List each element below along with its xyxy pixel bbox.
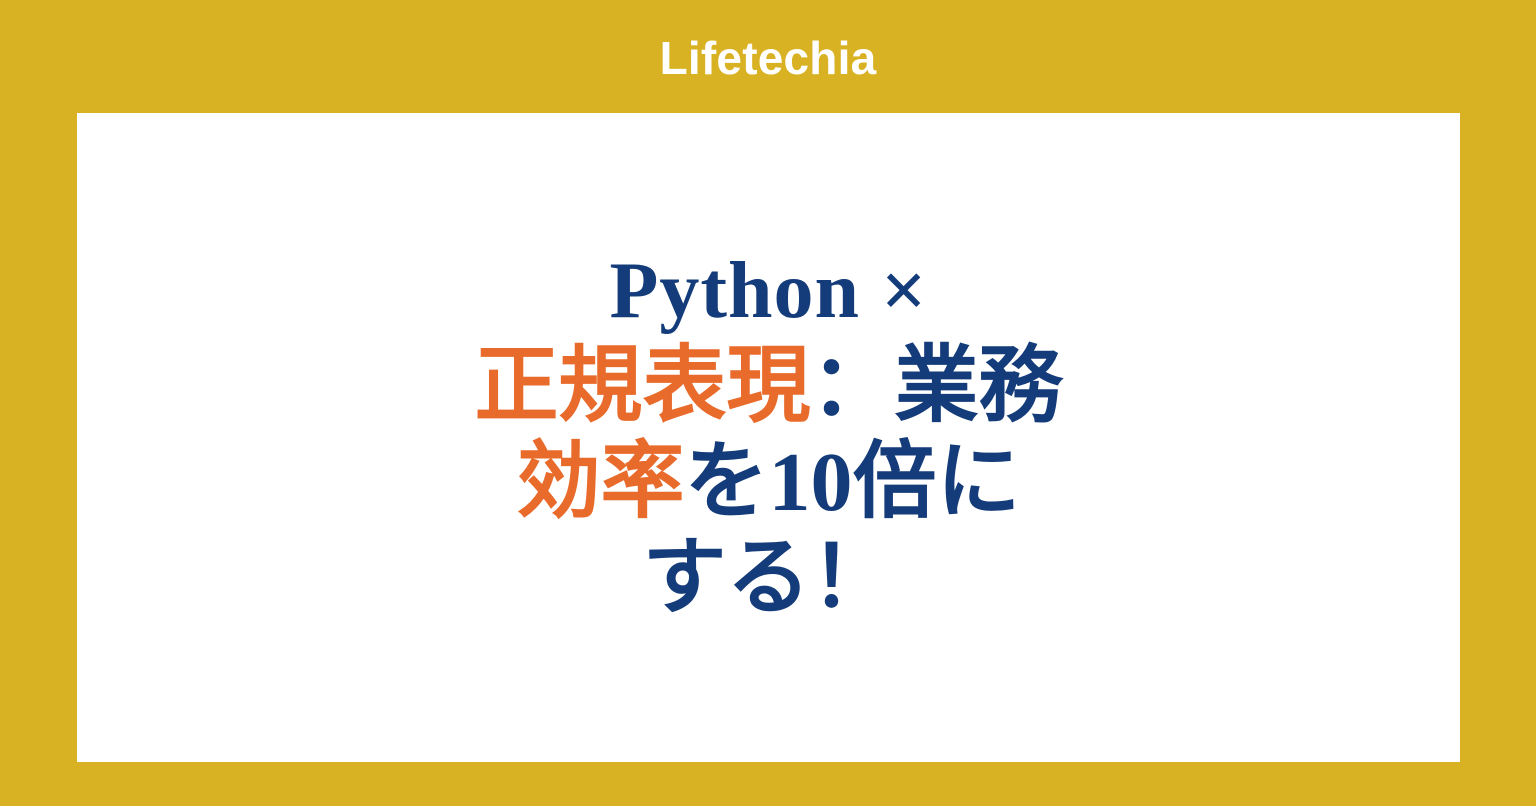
headline-line-3: 効率を10倍に <box>516 435 1020 531</box>
headline-segment-regex: 正規表現 <box>474 340 810 433</box>
headline-segment-10bai: を10倍に <box>685 436 1021 529</box>
headline-segment-suru: する！ <box>642 532 894 625</box>
site-title: Lifetechia <box>660 35 877 81</box>
headline-segment-gyomu: ：業務 <box>811 340 1063 433</box>
content-card: Python × 正規表現：業務 効率を10倍に する！ <box>77 113 1460 762</box>
headline-line-4: する！ <box>642 531 894 627</box>
headline-stack: Python × 正規表現：業務 効率を10倍に する！ <box>474 243 1062 627</box>
headline-line-2: 正規表現：業務 <box>474 339 1062 435</box>
site-branding-bar: Lifetechia <box>0 0 1536 113</box>
headline-segment-python: Python × <box>609 247 927 335</box>
thumbnail-canvas: Lifetechia Python × 正規表現：業務 効率を10倍に する！ <box>0 0 1536 806</box>
headline-segment-kouritsu: 効率 <box>516 436 684 529</box>
headline-line-1: Python × <box>609 243 927 339</box>
headline-block: Python × 正規表現：業務 効率を10倍に する！ <box>77 113 1460 762</box>
